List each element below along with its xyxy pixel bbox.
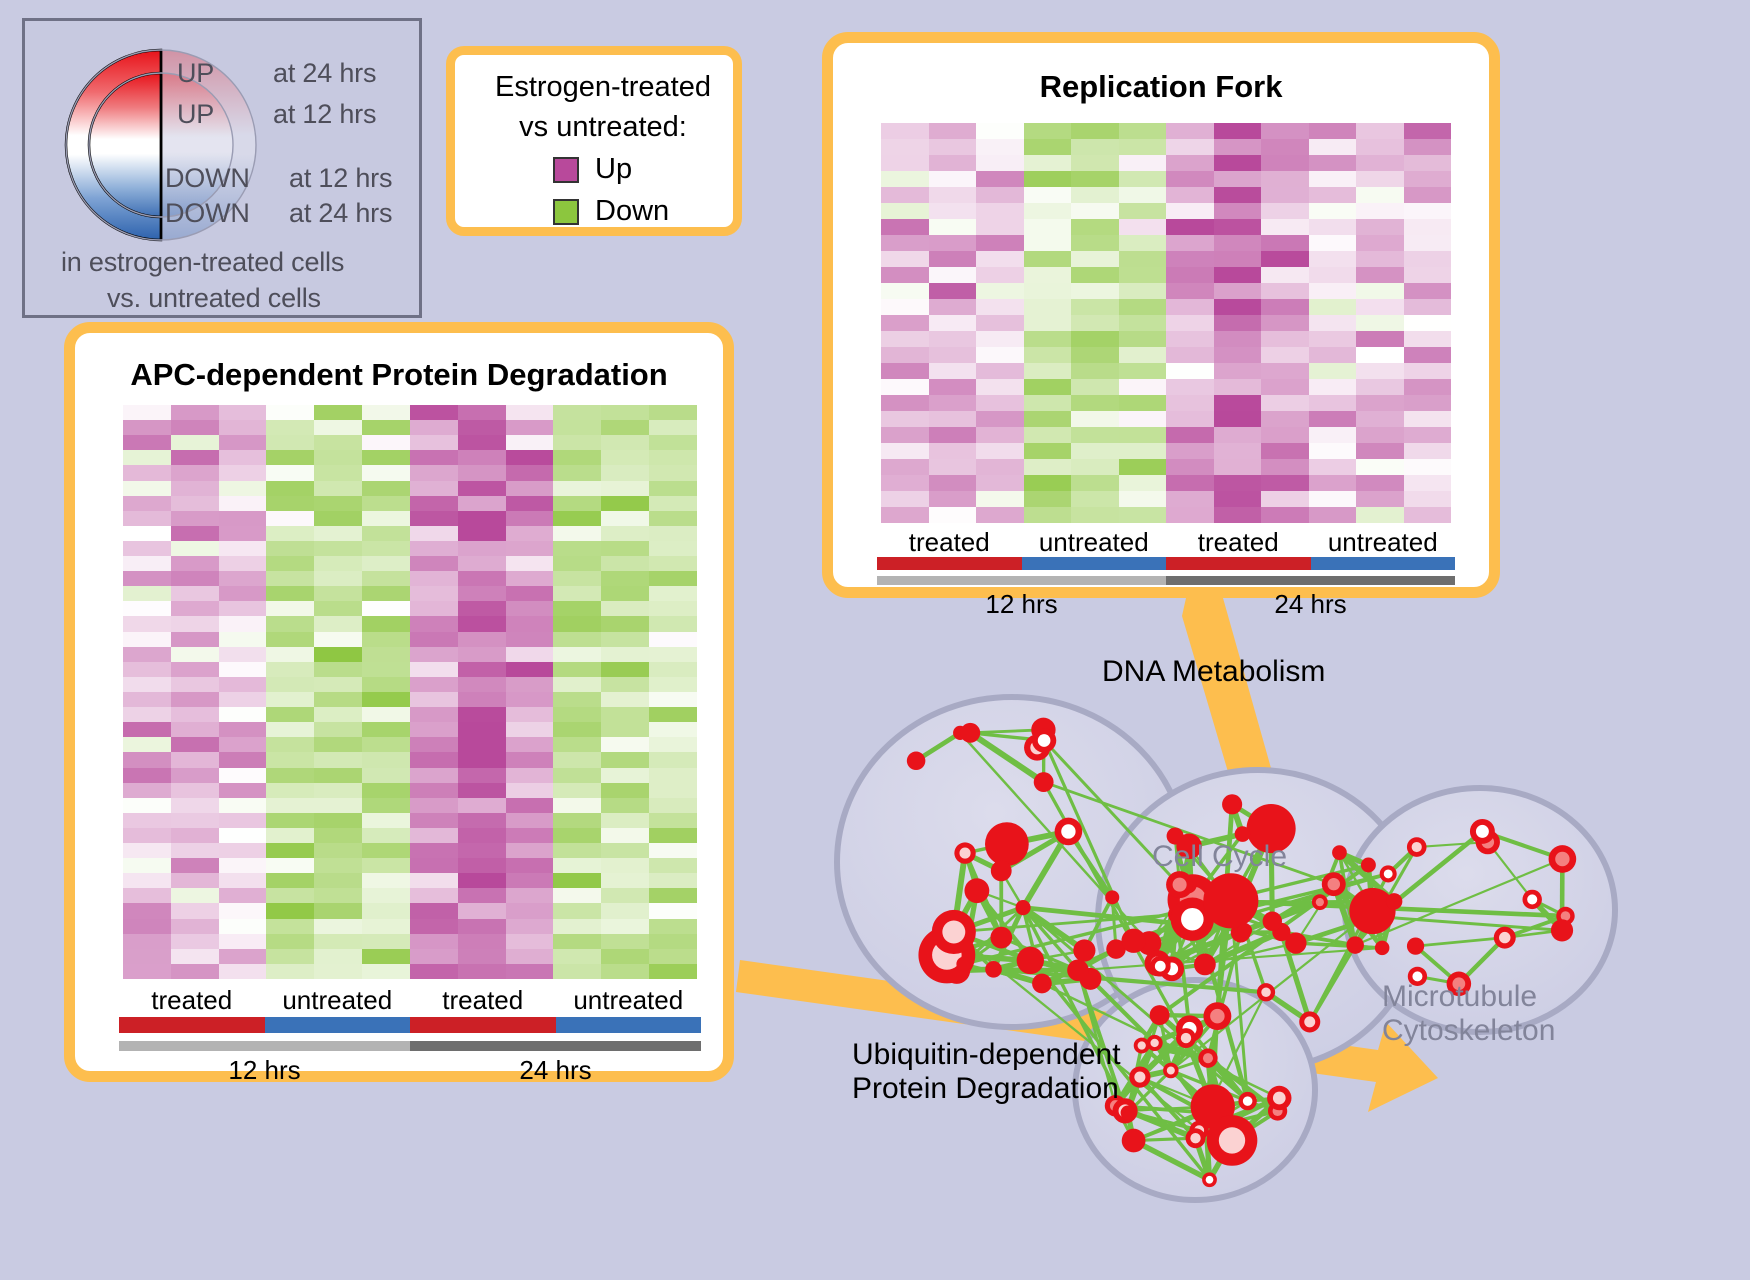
heatmap-cell [458, 541, 506, 556]
heatmap-cell [1309, 379, 1357, 395]
heatmap-cell [929, 155, 977, 171]
heatmap-cell [219, 481, 267, 496]
heatmap-cell [649, 798, 697, 813]
heatmap-cell [458, 465, 506, 480]
heatmap-cell [1309, 171, 1357, 187]
heatmap-cell [1214, 235, 1262, 251]
heatmap-cell [649, 601, 697, 616]
heatmap-cell [266, 586, 314, 601]
network-node[interactable] [1299, 1011, 1320, 1032]
heatmap-cell [601, 601, 649, 616]
heatmap-cell [219, 737, 267, 752]
heatmap-cell [219, 601, 267, 616]
heatmap-cell [1166, 427, 1214, 443]
heatmap-cell [601, 571, 649, 586]
heatmap-cell [1309, 219, 1357, 235]
cluster-label-microtubule-cytoskeleton: MicrotubuleCytoskeleton [1382, 980, 1555, 1047]
heatmap-cell [881, 443, 929, 459]
heatmap-cell [1356, 491, 1404, 507]
legend-time-24a: at 24 hrs [273, 58, 376, 89]
heatmap-cell [506, 737, 554, 752]
heatmap-cell [601, 828, 649, 843]
heatmap-cell [649, 571, 697, 586]
heatmap-cell [1024, 347, 1072, 363]
heatmap-cell [1214, 395, 1262, 411]
heatmap-cell [1356, 347, 1404, 363]
heatmap-cell [362, 752, 410, 767]
network-node[interactable] [1032, 974, 1052, 994]
network-node[interactable] [1332, 845, 1347, 860]
heatmap-cell [458, 964, 506, 979]
heatmap-cell [171, 541, 219, 556]
heatmap-cell [1071, 299, 1119, 315]
heatmap-cell [123, 556, 171, 571]
network-node[interactable] [954, 842, 975, 863]
heatmap-cell [601, 843, 649, 858]
heatmap-cell [458, 919, 506, 934]
heatmap-cell [1261, 219, 1309, 235]
heatmap-cell [1404, 235, 1452, 251]
heatmap-cell [123, 647, 171, 662]
heatmap-cell [1214, 491, 1262, 507]
heatmap-cell [219, 843, 267, 858]
heatmap-cell [458, 813, 506, 828]
network-node[interactable] [1129, 1066, 1150, 1087]
heatmap-cell [929, 139, 977, 155]
heatmap-cell [553, 873, 601, 888]
legend-footer-line1: in estrogen-treated cells [61, 247, 344, 278]
heatmap-cell [1024, 203, 1072, 219]
heatmap-cell [1214, 443, 1262, 459]
network-node[interactable] [985, 822, 1029, 866]
heatmap-cell [123, 465, 171, 480]
heatmap-cell [553, 662, 601, 677]
heatmap-cell [219, 768, 267, 783]
heatmap-cell [362, 405, 410, 420]
network-node[interactable] [1202, 1172, 1217, 1187]
heatmap-cell [410, 450, 458, 465]
heatmap-cell [929, 187, 977, 203]
network-node[interactable] [1386, 893, 1402, 909]
heatmap-cell [171, 903, 219, 918]
network-node[interactable] [991, 860, 1012, 881]
heatmap-cell [929, 203, 977, 219]
time-label: 24 hrs [1166, 589, 1455, 620]
heatmap-cell [601, 541, 649, 556]
heatmap-cell [649, 647, 697, 662]
network-node[interactable] [960, 723, 980, 743]
heatmap-cell [219, 526, 267, 541]
heatmap-cell [553, 798, 601, 813]
heatmap-cell [266, 858, 314, 873]
heatmap-cell [314, 571, 362, 586]
network-node[interactable] [1034, 772, 1054, 792]
heatmap-cell [458, 601, 506, 616]
heatmap-cell [1356, 267, 1404, 283]
network-node[interactable] [1105, 890, 1119, 904]
network-node[interactable] [1150, 956, 1171, 977]
heatmap-cell [929, 331, 977, 347]
condition-labels-apc: treateduntreatedtreateduntreated [119, 985, 701, 1016]
heatmap-cell [1166, 155, 1214, 171]
heatmap-cell [362, 677, 410, 692]
heatmap-cell [458, 496, 506, 511]
heatmap-cell [458, 873, 506, 888]
heatmap-cell [929, 459, 977, 475]
network-node[interactable] [1032, 728, 1056, 752]
heatmap-cell [219, 405, 267, 420]
heatmap-cell [1309, 475, 1357, 491]
heatmap-cell [929, 123, 977, 139]
network-node[interactable] [1361, 858, 1376, 873]
heatmap-cell [171, 662, 219, 677]
heatmap-cell [601, 813, 649, 828]
heatmap-cell [1261, 251, 1309, 267]
heatmap-cell [266, 737, 314, 752]
heatmap-cell [1024, 411, 1072, 427]
heatmap-cell [881, 139, 929, 155]
network-node[interactable] [1163, 1063, 1178, 1078]
heatmap-cell [601, 511, 649, 526]
network-node[interactable] [1150, 1005, 1170, 1025]
heatmap-cell [1166, 171, 1214, 187]
heatmap-cell [601, 465, 649, 480]
heatmap-cell [171, 450, 219, 465]
heatmap-cell [219, 888, 267, 903]
heatmap-cell [1356, 235, 1404, 251]
network-node[interactable] [1238, 1092, 1256, 1110]
heatmap-cell [1166, 123, 1214, 139]
heatmap-cell [362, 616, 410, 631]
network-node[interactable] [1073, 939, 1095, 961]
heatmap-cell [649, 632, 697, 647]
network-node[interactable] [1017, 947, 1044, 974]
heatmap-cell [1071, 443, 1119, 459]
network-node[interactable] [1015, 900, 1030, 915]
heatmap-cell [314, 496, 362, 511]
network-node[interactable] [1203, 873, 1258, 928]
heatmap-cell [1309, 139, 1357, 155]
network-node[interactable] [990, 927, 1012, 949]
heatmap-cell [649, 722, 697, 737]
heatmap-cell [266, 964, 314, 979]
heatmap-cell [123, 873, 171, 888]
heatmap-cell [976, 251, 1024, 267]
heatmap-cell [266, 450, 314, 465]
network-node[interactable] [1470, 819, 1495, 844]
heatmap-cell [410, 692, 458, 707]
heatmap-cell [601, 496, 649, 511]
heatmap-cell [976, 235, 1024, 251]
heatmap-cell [601, 662, 649, 677]
network-node[interactable] [1522, 890, 1541, 909]
heatmap-cell [219, 964, 267, 979]
time-bar-segment [877, 576, 1166, 585]
heatmap-cell [649, 662, 697, 677]
heatmap-cell [506, 616, 554, 631]
heatmap-cell [123, 798, 171, 813]
heatmap-cell [123, 888, 171, 903]
network-node[interactable] [1285, 932, 1306, 953]
heatmap-cell [553, 556, 601, 571]
heatmap-cell [171, 813, 219, 828]
heatmap-cell [601, 632, 649, 647]
heatmap-cell [123, 722, 171, 737]
heatmap-cell [881, 315, 929, 331]
heatmap-cell [1261, 347, 1309, 363]
heatmap-cell [171, 465, 219, 480]
heatmap-cell [506, 586, 554, 601]
heatmap-cell [881, 459, 929, 475]
heatmap-cell [123, 919, 171, 934]
heatmap-cell [649, 964, 697, 979]
heatmap-cell [929, 283, 977, 299]
heatmap-cell [1071, 475, 1119, 491]
heatmap-cell [1024, 251, 1072, 267]
network-node[interactable] [1267, 1086, 1291, 1110]
network-node[interactable] [1222, 794, 1242, 814]
network-node[interactable] [1055, 818, 1083, 846]
heatmap-cell [458, 783, 506, 798]
heatmap-cell [171, 873, 219, 888]
network-node[interactable] [1380, 865, 1397, 882]
heatmap-cell [219, 752, 267, 767]
heatmap-cell [1356, 315, 1404, 331]
network-node[interactable] [1551, 919, 1573, 941]
heatmap-cell [1071, 203, 1119, 219]
pathway-network: DNA Metabolism Cell Cycle MicrotubuleCyt… [790, 620, 1750, 1280]
network-node[interactable] [1407, 837, 1427, 857]
heatmap-cell [1119, 427, 1167, 443]
heatmap-cell [1119, 491, 1167, 507]
network-node[interactable] [1166, 871, 1193, 898]
network-node[interactable] [1346, 936, 1363, 953]
heatmap-cell [171, 768, 219, 783]
heatmap-cell [266, 405, 314, 420]
heatmap-cell [123, 903, 171, 918]
network-node[interactable] [1549, 845, 1577, 873]
heatmap-cell [458, 949, 506, 964]
time-bar-apc [119, 1041, 701, 1051]
heatmap-cell [1309, 251, 1357, 267]
heatmap-cell [123, 601, 171, 616]
heatmap-cell [123, 541, 171, 556]
network-node[interactable] [1194, 954, 1216, 976]
network-node[interactable] [1186, 1128, 1206, 1148]
network-node[interactable] [1176, 1028, 1196, 1048]
heatmap-cell [601, 888, 649, 903]
heatmap-cell [1404, 475, 1452, 491]
heatmap-cell [1166, 283, 1214, 299]
heatmap-cell [881, 187, 929, 203]
heatmap-cell [601, 768, 649, 783]
heatmap-cell [171, 843, 219, 858]
heatmap-cell [929, 379, 977, 395]
heatmap-cell [123, 949, 171, 964]
heatmap-cell [1261, 331, 1309, 347]
heatmap-cell [123, 481, 171, 496]
heatmap-cell [362, 903, 410, 918]
heatmap-cell [123, 571, 171, 586]
network-node[interactable] [1494, 927, 1516, 949]
heatmap-cell [410, 481, 458, 496]
network-node[interactable] [964, 878, 989, 903]
heatmap-cell [314, 798, 362, 813]
heatmap-cell [1119, 475, 1167, 491]
heatmap-cell [1119, 395, 1167, 411]
heatmap-cell [314, 526, 362, 541]
heatmap-cell [601, 616, 649, 631]
heatmap-cell [1119, 507, 1167, 523]
heatmap-cell [314, 435, 362, 450]
heatmap-cell [362, 465, 410, 480]
heatmap-cell [881, 123, 929, 139]
heatmap-cell [1166, 315, 1214, 331]
heatmap-cell [410, 843, 458, 858]
heatmap-cell [266, 722, 314, 737]
heatmap-cell [410, 616, 458, 631]
heatmap-cell [410, 586, 458, 601]
network-node[interactable] [1203, 1002, 1231, 1030]
network-node[interactable] [1121, 1106, 1135, 1120]
network-node[interactable] [1238, 923, 1252, 937]
heatmap-cell [506, 798, 554, 813]
heatmap-cell [1024, 155, 1072, 171]
condition-bar-segment [265, 1017, 411, 1033]
heatmap-cell [553, 526, 601, 541]
network-node[interactable] [1134, 1038, 1150, 1054]
heatmap-cell [649, 828, 697, 843]
network-node[interactable] [1121, 929, 1145, 953]
heatmap-cell [976, 155, 1024, 171]
heatmap-cell [123, 828, 171, 843]
heatmap-cell [123, 450, 171, 465]
heatmap-cell [1166, 267, 1214, 283]
network-node[interactable] [1122, 1129, 1146, 1153]
heatmap-cell [506, 571, 554, 586]
heatmap-cell [314, 481, 362, 496]
legend-time-12b: at 12 hrs [289, 163, 392, 194]
heatmap-cell [1214, 347, 1262, 363]
heatmap-cell [171, 420, 219, 435]
heatmap-cell [266, 541, 314, 556]
heatmap-cell [1024, 363, 1072, 379]
heatmap-cell [266, 692, 314, 707]
heatmap-cell [1071, 395, 1119, 411]
heatmap-cell [553, 435, 601, 450]
heatmap-cell [410, 798, 458, 813]
heatmap-cell [266, 843, 314, 858]
heatmap-cell [1261, 123, 1309, 139]
heatmap-cell [601, 526, 649, 541]
heatmap-cell [362, 873, 410, 888]
heatmap-cell [171, 949, 219, 964]
network-node[interactable] [1067, 959, 1089, 981]
heatmap-cell [1119, 171, 1167, 187]
condition-label: treated [877, 527, 1022, 558]
heatmap-cell [1024, 299, 1072, 315]
heatmap-cell [649, 873, 697, 888]
heatmap-cell [123, 586, 171, 601]
heatmap-cell [553, 692, 601, 707]
heatmap-cell [123, 752, 171, 767]
network-node[interactable] [1407, 937, 1424, 954]
network-node[interactable] [1257, 983, 1275, 1001]
heatmap-cell [1214, 427, 1262, 443]
heatmap-cell [1024, 427, 1072, 443]
network-node[interactable] [1349, 888, 1395, 934]
heatmap-cell [266, 934, 314, 949]
network-node[interactable] [907, 752, 926, 771]
heatmap-cell [362, 435, 410, 450]
heatmap-cell [266, 662, 314, 677]
heatmap-cell [553, 919, 601, 934]
heatmap-cell [1356, 475, 1404, 491]
heatmap-cell [219, 677, 267, 692]
heatmap-cell [553, 496, 601, 511]
network-node[interactable] [1263, 912, 1282, 931]
heatmap-cell [1071, 331, 1119, 347]
heatmap-cell [601, 949, 649, 964]
legend-direction-up-12: UP [177, 99, 214, 130]
heatmap-cell [410, 465, 458, 480]
heatmap-cell [1166, 299, 1214, 315]
network-node[interactable] [1375, 941, 1390, 956]
heatmap-cell [1309, 187, 1357, 203]
heatmap-cell [219, 556, 267, 571]
heatmap-cell [1356, 331, 1404, 347]
heatmap-cell [1214, 411, 1262, 427]
heatmap-cell [266, 783, 314, 798]
network-node[interactable] [1198, 1049, 1217, 1068]
network-node[interactable] [1312, 894, 1328, 910]
heatmap-cell [506, 873, 554, 888]
heatmap-cell [1309, 443, 1357, 459]
heatmap-cell [362, 496, 410, 511]
heatmap-cell [1119, 315, 1167, 331]
condition-label: untreated [265, 985, 411, 1016]
network-node[interactable] [956, 957, 970, 971]
heatmap-cell [314, 450, 362, 465]
heatmap-cell [553, 571, 601, 586]
heatmap-cell [553, 647, 601, 662]
heatmap-cell [266, 616, 314, 631]
heatmap-cell [1309, 283, 1357, 299]
heatmap-cell [458, 768, 506, 783]
heatmap-cell [881, 267, 929, 283]
network-node[interactable] [985, 961, 1002, 978]
heatmap-cell [314, 949, 362, 964]
time-bar-replication-fork [877, 576, 1455, 585]
heatmap-cell [553, 465, 601, 480]
network-node[interactable] [1322, 872, 1346, 896]
heatmap-cell [1356, 443, 1404, 459]
heatmap-cell [1404, 299, 1452, 315]
network-node[interactable] [1207, 1115, 1258, 1166]
time-label: 12 hrs [877, 589, 1166, 620]
heatmap-cell [976, 139, 1024, 155]
heatmap-cell [881, 251, 929, 267]
heatmap-cell [506, 556, 554, 571]
network-node[interactable] [932, 910, 976, 954]
heatmap-cell [219, 798, 267, 813]
heatmap-cell [1356, 459, 1404, 475]
heatmap-cell [1356, 395, 1404, 411]
heatmap-cell [506, 964, 554, 979]
heatmap-cell [1309, 123, 1357, 139]
heatmap-cell [506, 752, 554, 767]
heatmap-cell [410, 888, 458, 903]
